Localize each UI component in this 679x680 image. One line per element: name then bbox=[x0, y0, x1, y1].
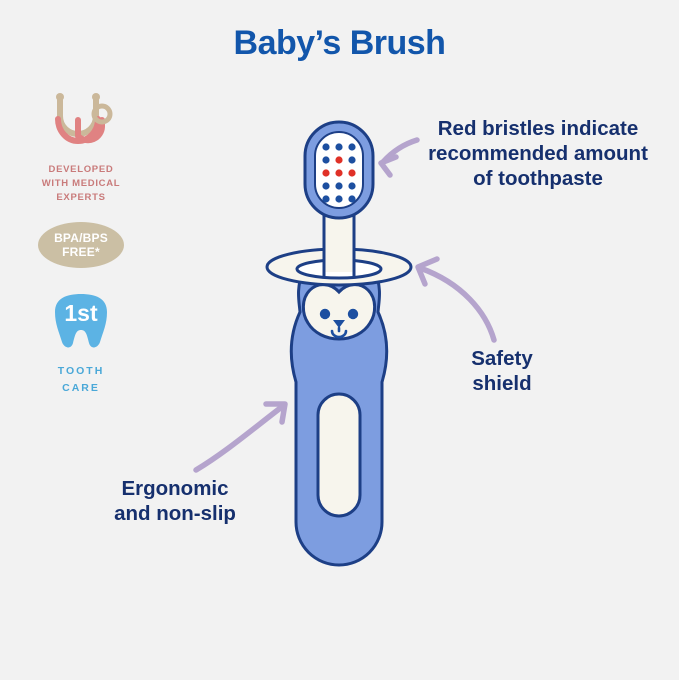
annotation-line: Ergonomic bbox=[60, 476, 290, 501]
annotation-line: shield bbox=[432, 371, 572, 396]
annotation-line: of toothpaste bbox=[404, 166, 672, 191]
annotation-ergonomic-non-slip: Ergonomic and non-slip bbox=[60, 476, 290, 526]
annotation-safety-shield: Safety shield bbox=[432, 346, 572, 396]
annotation-line: recommended amount bbox=[404, 141, 672, 166]
annotation-line: Safety bbox=[432, 346, 572, 371]
annotation-arrows bbox=[0, 0, 679, 680]
annotation-line: and non-slip bbox=[60, 501, 290, 526]
infographic-page: Baby’s Brush DEVELOPED WITH MEDICAL EXPE… bbox=[0, 0, 679, 680]
curved-arrow-up-right-icon bbox=[196, 404, 285, 470]
annotation-line: Red bristles indicate bbox=[404, 116, 672, 141]
curved-arrow-up-left-icon bbox=[418, 259, 494, 340]
annotation-red-bristles: Red bristles indicate recommended amount… bbox=[404, 116, 672, 191]
